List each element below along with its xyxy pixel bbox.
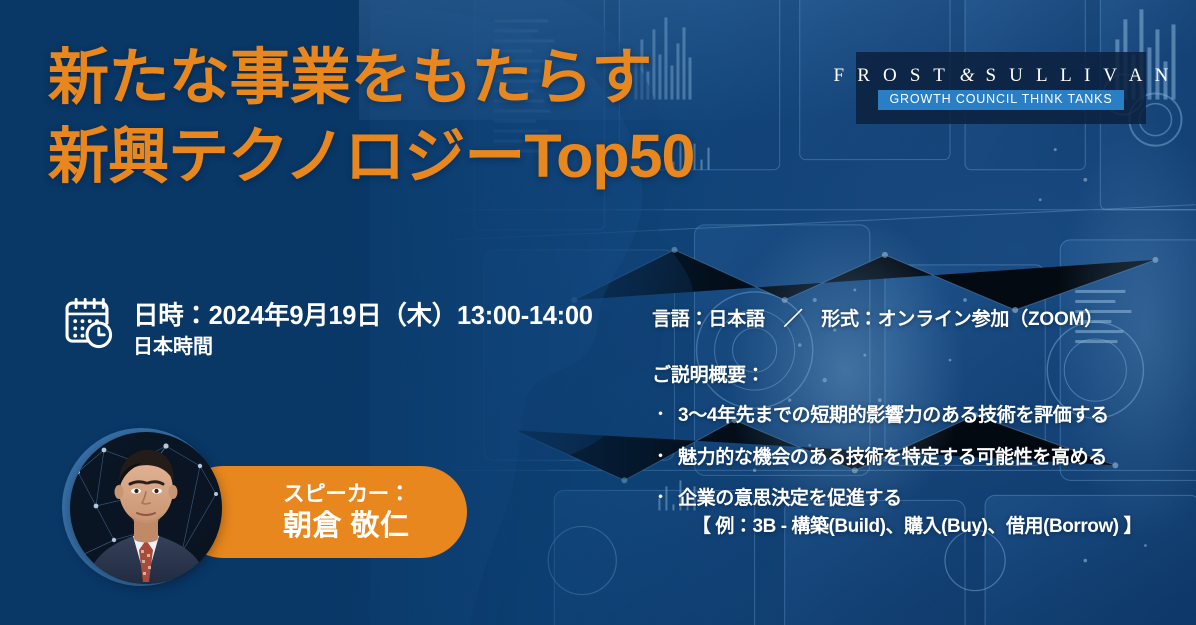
logo-brand-name: F R O S T & S U L L I V A N — [830, 66, 1173, 85]
page-title: 新たな事業をもたらす 新興テクノロジーTop50 — [48, 38, 694, 197]
speaker-role-label: スピーカー： — [283, 481, 410, 508]
list-item-label: 企業の意思決定を促進する — [678, 488, 902, 509]
logo-subtitle-badge: GROWTH COUNCIL THINK TANKS — [878, 90, 1123, 110]
frost-sullivan-logo: F R O S T & S U L L I V A N GROWTH COUNC… — [856, 52, 1146, 124]
event-details: 言語：日本語 ／ 形式：オンライン参加（ZOOM） ご説明概要： ・ 3〜4年先… — [652, 308, 1172, 555]
bullet-icon: ・ — [652, 485, 669, 511]
headline-line-2: 新興テクノロジーTop50 — [48, 117, 694, 196]
logo-brand-part2: S U L L I V A N — [985, 65, 1172, 86]
overview-heading: ご説明概要： — [652, 364, 1172, 389]
speaker-photo — [70, 432, 222, 584]
list-item-label: 3〜4年先までの短期的影響力のある技術を評価する — [678, 405, 1109, 426]
event-datetime-block: 日時：2024年9月19日（木）13:00-14:00 日本時間 — [58, 292, 593, 362]
list-item: ・ 企業の意思決定を促進する 【 例：3B - 構築(Build)、購入(Buy… — [652, 485, 1172, 540]
list-item-text-wrap: 魅力的な機会のある技術を特定する可能性を高める — [678, 444, 1107, 472]
bullet-icon: ・ — [652, 402, 669, 428]
list-item-label: 魅力的な機会のある技術を特定する可能性を高める — [678, 447, 1107, 468]
list-item-sublabel: 【 例：3B - 構築(Build)、購入(Buy)、借用(Borrow) 】 — [678, 513, 1142, 541]
list-item-text-wrap: 企業の意思決定を促進する 【 例：3B - 構築(Build)、購入(Buy)、… — [678, 485, 1142, 540]
list-item: ・ 3〜4年先までの短期的影響力のある技術を評価する — [652, 402, 1172, 430]
bullet-icon: ・ — [652, 444, 669, 470]
list-item: ・ 魅力的な機会のある技術を特定する可能性を高める — [652, 444, 1172, 472]
headline-line-1: 新たな事業をもたらす — [48, 38, 694, 117]
logo-ampersand: & — [958, 65, 977, 86]
webinar-banner: F R O S T & S U L L I V A N GROWTH COUNC… — [0, 0, 1196, 625]
logo-brand-part1: F R O S T — [834, 65, 949, 86]
list-item-text-wrap: 3〜4年先までの短期的影響力のある技術を評価する — [678, 402, 1109, 430]
calendar-clock-icon — [58, 294, 116, 352]
overview-bullet-list: ・ 3〜4年先までの短期的影響力のある技術を評価する ・ 魅力的な機会のある技術… — [652, 402, 1172, 540]
speaker-name: 朝倉 敬仁 — [283, 509, 410, 544]
event-datetime-primary: 日時：2024年9月19日（木）13:00-14:00 — [133, 301, 593, 332]
speaker-block: スピーカー： 朝倉 敬仁 — [62, 428, 482, 598]
event-datetime-text: 日時：2024年9月19日（木）13:00-14:00 日本時間 — [133, 292, 593, 362]
event-timezone: 日本時間 — [133, 332, 593, 362]
event-meta-line: 言語：日本語 ／ 形式：オンライン参加（ZOOM） — [652, 308, 1172, 333]
